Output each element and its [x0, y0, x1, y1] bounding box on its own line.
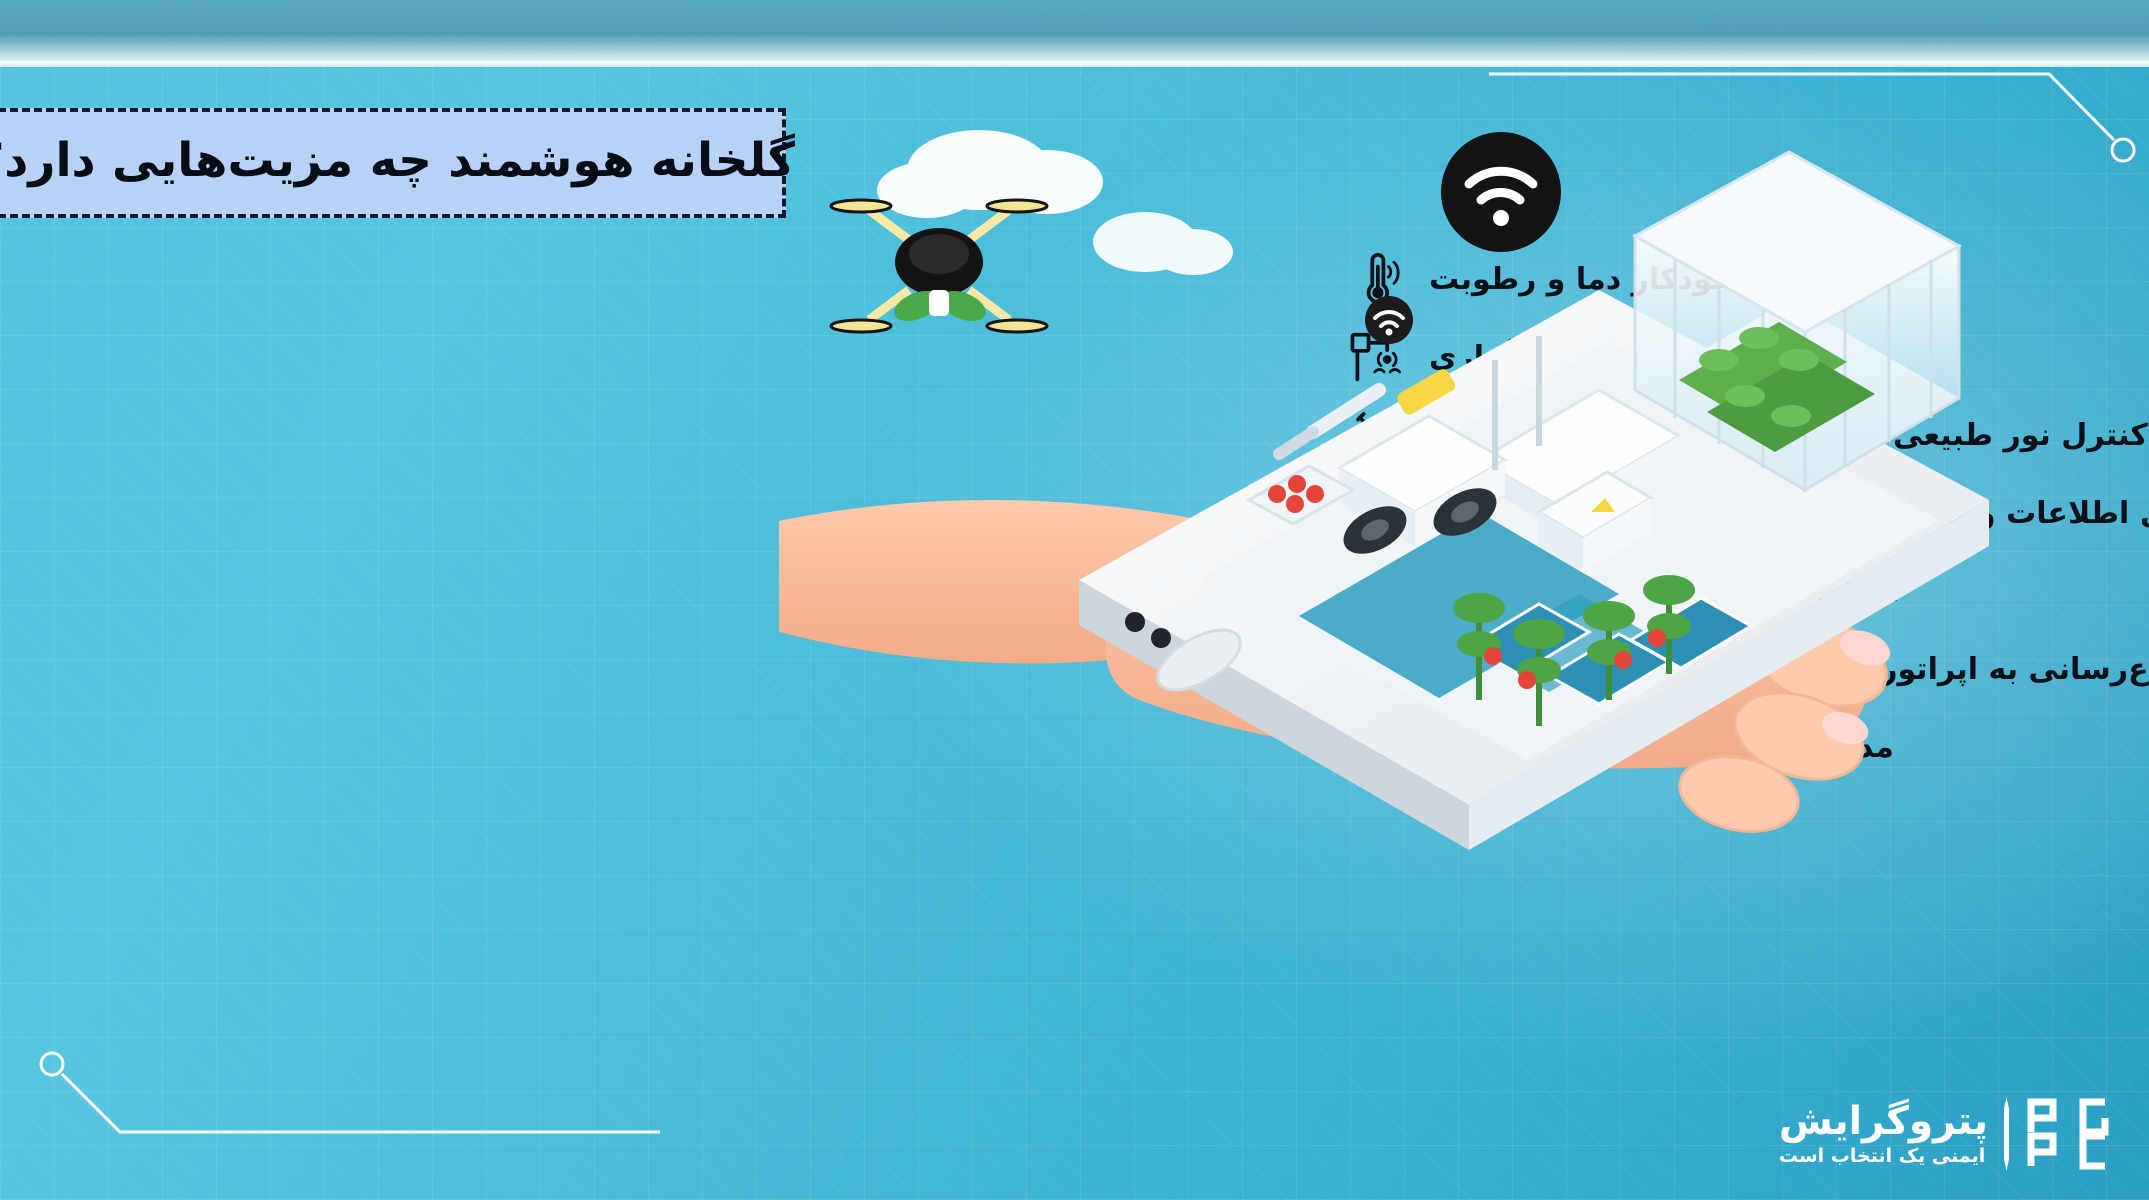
page-title: گلخانه هوشمند چه مزیت‌هایی دارد؟ — [0, 137, 795, 190]
logo-text-block: پتروگرایش ایمنی یک انتخاب است — [1779, 1102, 1988, 1166]
logo-tagline: ایمنی یک انتخاب است — [1779, 1147, 1985, 1166]
logo-divider — [2004, 1097, 2009, 1171]
cloud — [1093, 212, 1233, 275]
isometric-greenhouse-illustration — [779, 60, 2109, 1090]
wifi-small-icon — [1365, 296, 1413, 344]
drone — [831, 200, 1047, 332]
logo-company-name: پتروگرایش — [1779, 1102, 1988, 1141]
top-strip — [0, 0, 2149, 62]
page-title-box: گلخانه هوشمند چه مزیت‌هایی دارد؟ — [0, 108, 786, 218]
pgco-monogram-icon — [2025, 1096, 2111, 1172]
wifi-badge-icon — [1441, 132, 1561, 252]
company-logo: پتروگرایش ایمنی یک انتخاب است — [1779, 1096, 2111, 1172]
